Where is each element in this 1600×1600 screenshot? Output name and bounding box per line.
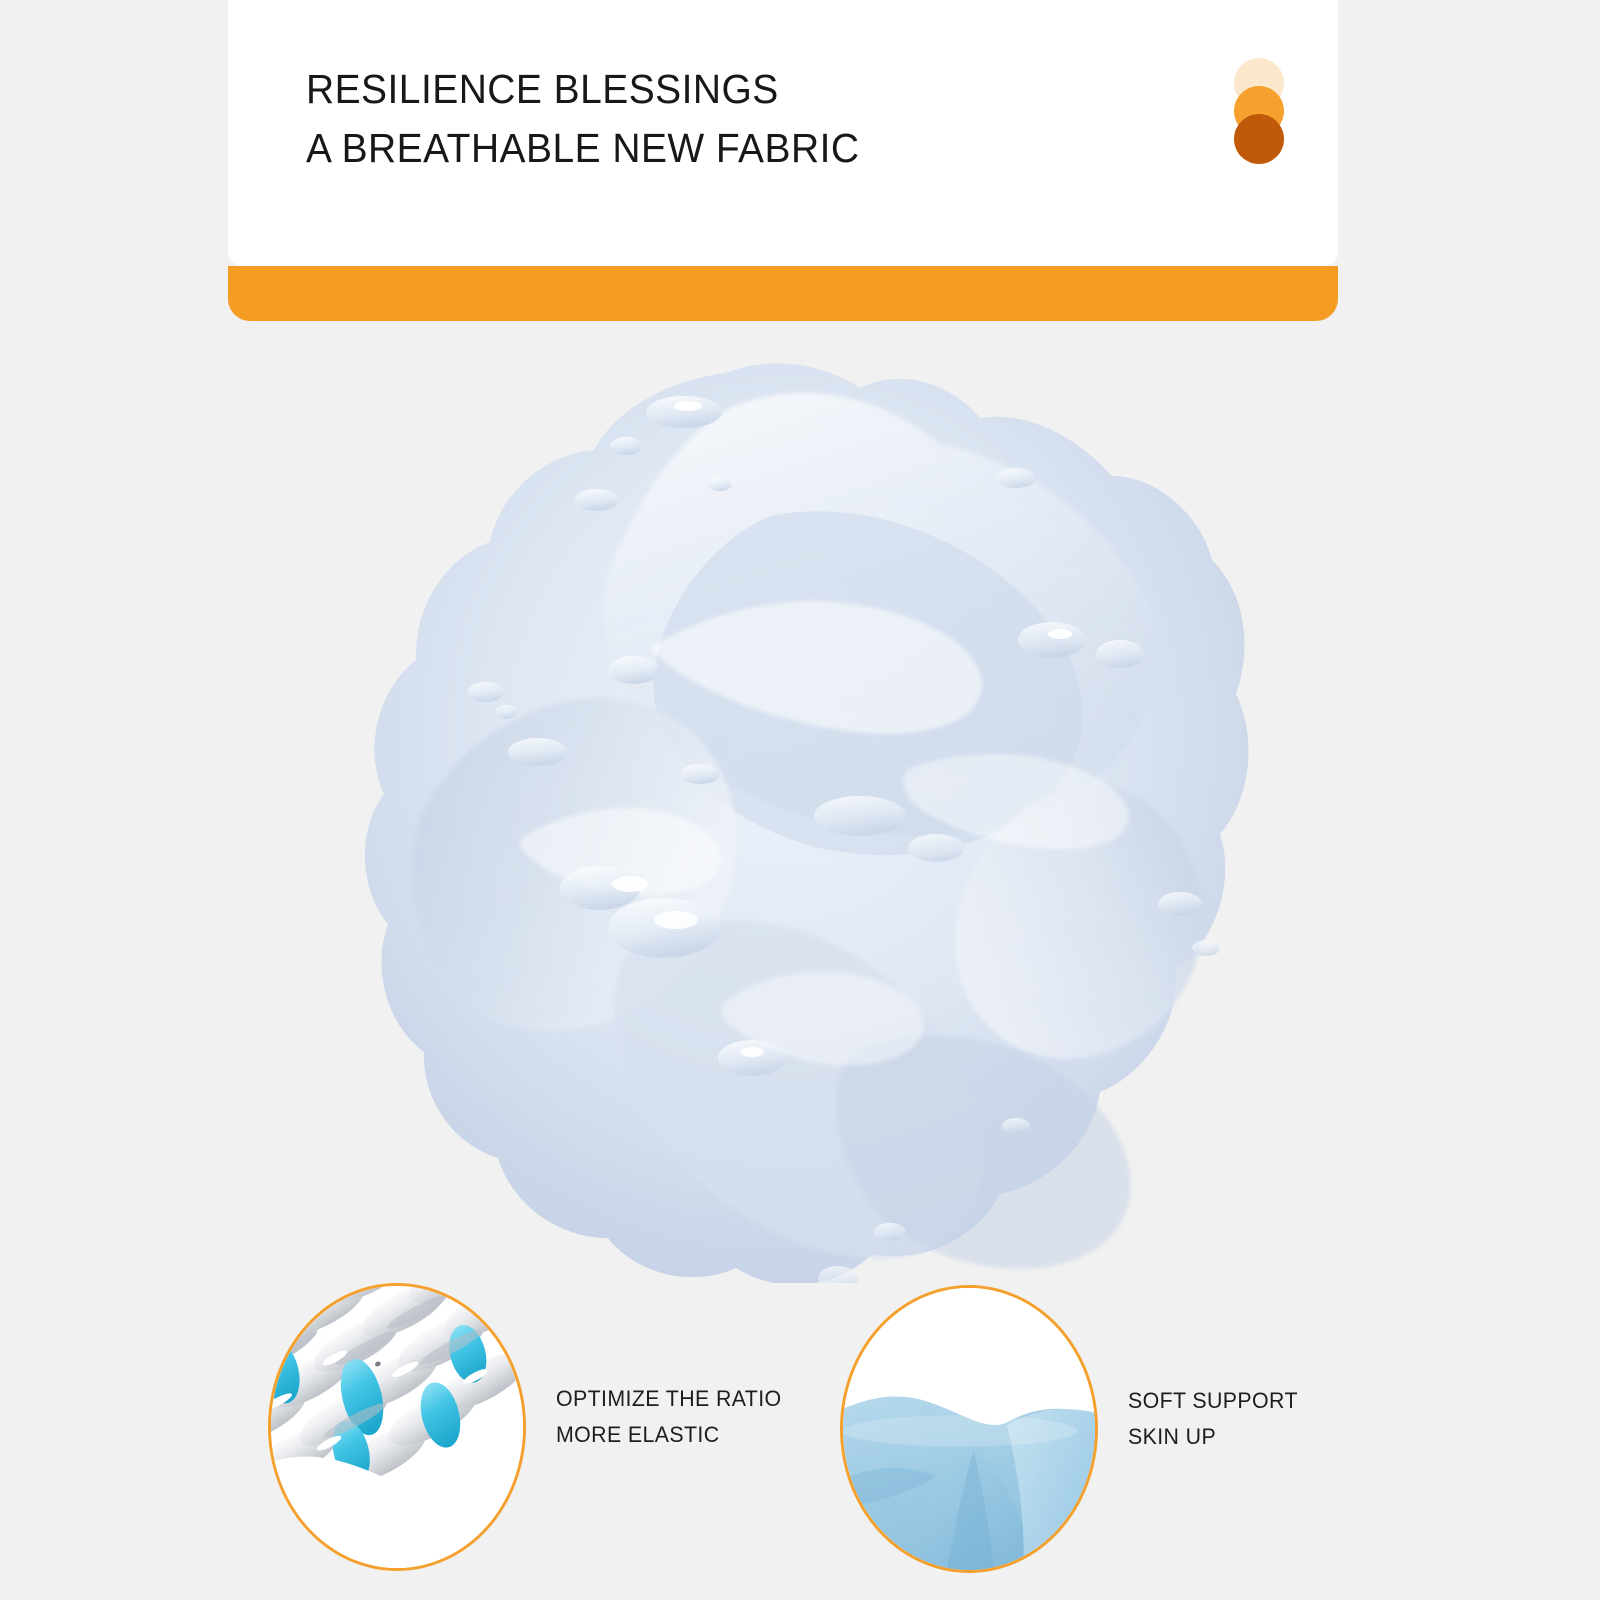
twisted-yarn-icon bbox=[271, 1286, 523, 1568]
page-title-line-2: A BREATHABLE NEW FABRIC bbox=[306, 119, 859, 178]
header-card: RESILIENCE BLESSINGS A BREATHABLE NEW FA… bbox=[228, 0, 1338, 266]
fabric-cube-illustration bbox=[300, 348, 1270, 1283]
product-detail-page: RESILIENCE BLESSINGS A BREATHABLE NEW FA… bbox=[0, 0, 1600, 1600]
page-title-line-1: RESILIENCE BLESSINGS bbox=[306, 60, 859, 119]
feature-caption-line-2: MORE ELASTIC bbox=[556, 1417, 782, 1453]
hero-fabric-render bbox=[300, 348, 1270, 1283]
feature-caption-line-1: SOFT SUPPORT bbox=[1128, 1383, 1298, 1419]
feature-caption-line-2: SKIN UP bbox=[1128, 1419, 1298, 1455]
feature-caption-optimize-ratio: OPTIMIZE THE RATIO MORE ELASTIC bbox=[556, 1381, 782, 1453]
soft-fabric-icon bbox=[843, 1288, 1095, 1570]
three-stacked-circles-logo-icon bbox=[1228, 58, 1290, 168]
feature-item-soft-support: SOFT SUPPORT SKIN UP bbox=[840, 1285, 1400, 1575]
page-title: RESILIENCE BLESSINGS A BREATHABLE NEW FA… bbox=[306, 60, 859, 178]
feature-image-soft-blue-fabric-closeup bbox=[840, 1285, 1098, 1573]
feature-image-twisted-yarn-closeup bbox=[268, 1283, 526, 1571]
feature-item-optimize-ratio: OPTIMIZE THE RATIO MORE ELASTIC bbox=[268, 1283, 828, 1573]
feature-caption-soft-support: SOFT SUPPORT SKIN UP bbox=[1128, 1383, 1298, 1455]
header-accent-bar bbox=[228, 266, 1338, 321]
logo-circle-brown-icon bbox=[1234, 114, 1284, 164]
feature-caption-line-1: OPTIMIZE THE RATIO bbox=[556, 1381, 782, 1417]
